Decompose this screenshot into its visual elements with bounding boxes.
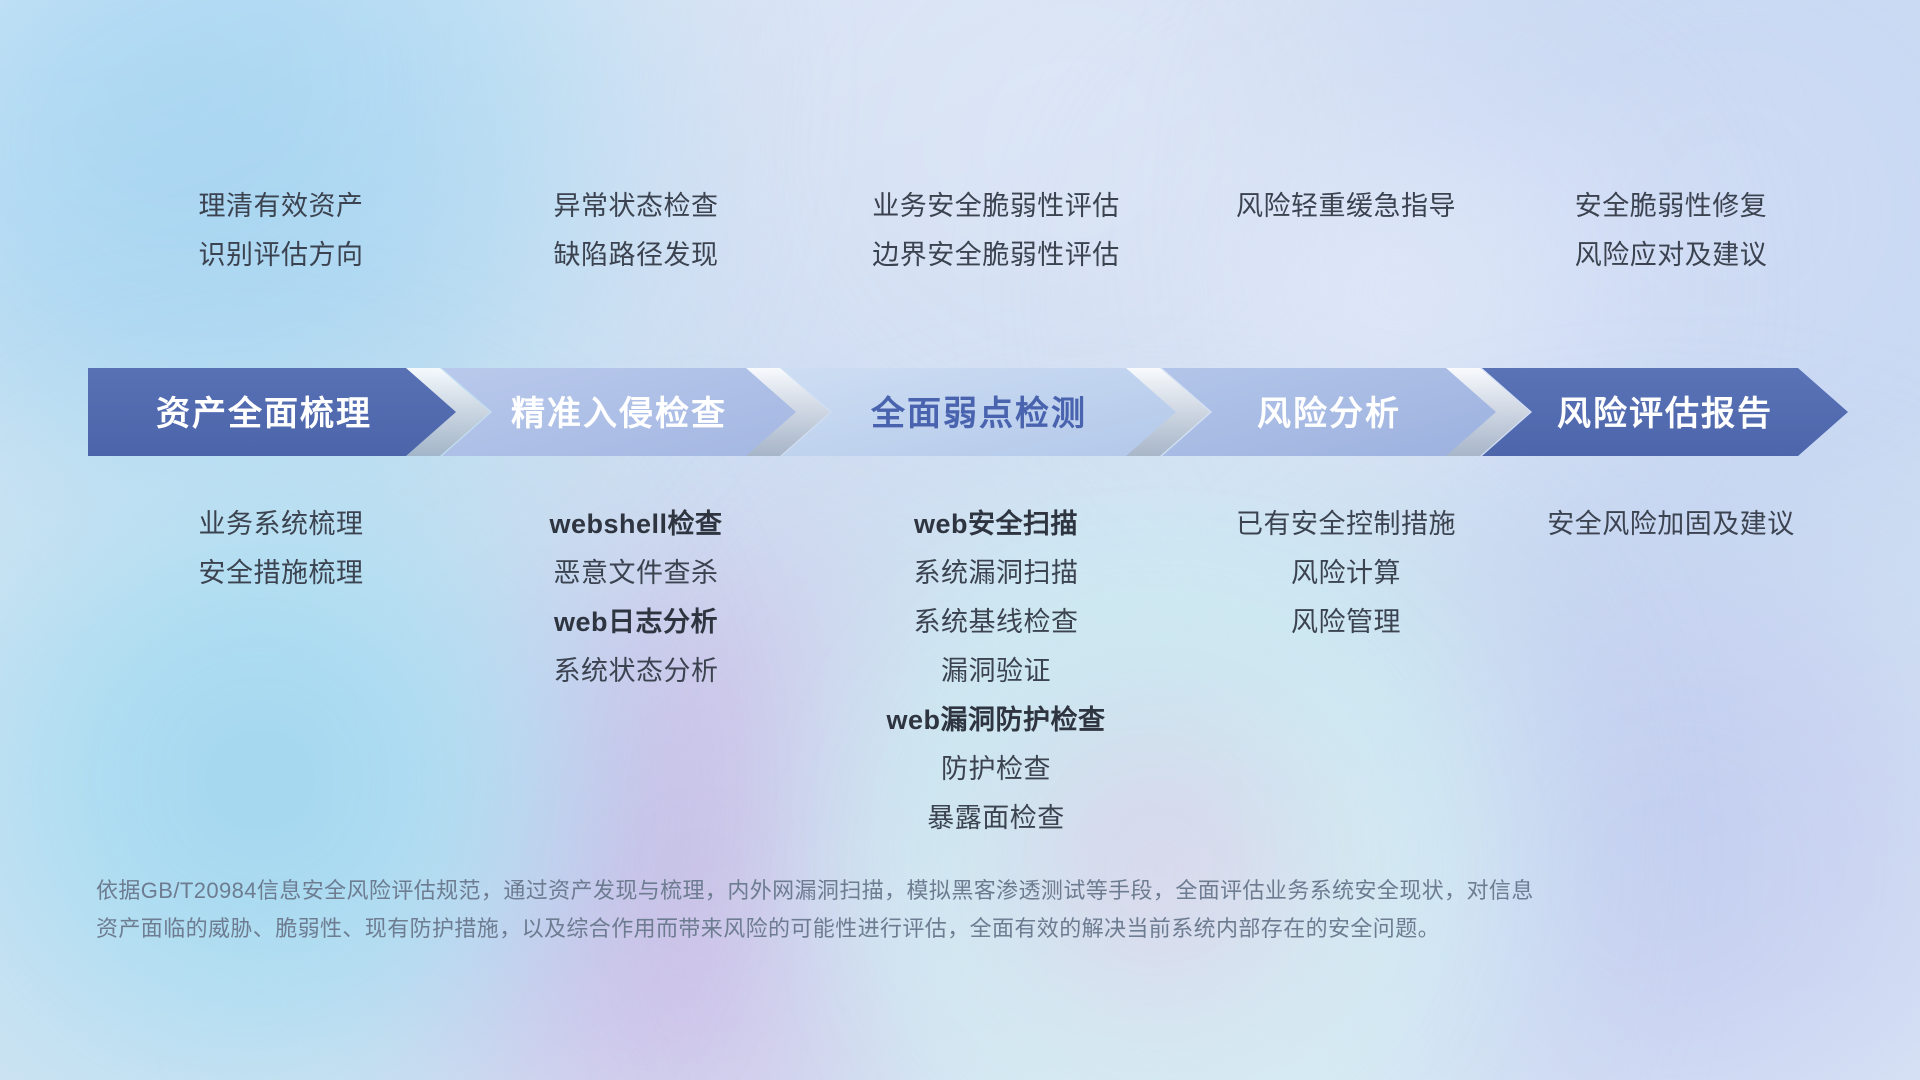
- top-column-3: 业务安全脆弱性评估 边界安全脆弱性评估: [806, 182, 1186, 282]
- bottom-label: 系统基线检查: [914, 598, 1079, 647]
- bottom-label: 风险计算: [1291, 549, 1401, 598]
- bottom-label: 系统状态分析: [554, 647, 719, 696]
- bottom-label: 业务系统梳理: [199, 500, 364, 549]
- bottom-label: web安全扫描: [914, 500, 1078, 549]
- bottom-column-3: web安全扫描 系统漏洞扫描 系统基线检查 漏洞验证 web漏洞防护检查 防护检…: [806, 500, 1186, 843]
- bottom-column-1: 业务系统梳理 安全措施梳理: [96, 500, 466, 598]
- process-chevron-banner: 资产全面梳理 精准入侵检查 全面弱点检测 风险分析 风险评估报告: [88, 368, 1848, 456]
- bottom-label: web日志分析: [554, 598, 718, 647]
- bottom-column-2: webshell检查 恶意文件查杀 web日志分析 系统状态分析: [466, 500, 806, 696]
- top-label: 边界安全脆弱性评估: [872, 231, 1120, 280]
- top-label-row: 理清有效资产 识别评估方向 异常状态检查 缺陷路径发现 业务安全脆弱性评估 边界…: [96, 182, 1836, 282]
- bottom-column-5: 安全风险加固及建议: [1506, 500, 1836, 549]
- bottom-label: webshell检查: [549, 500, 722, 549]
- bottom-label: 暴露面检查: [927, 794, 1065, 843]
- footer-description: 依据GB/T20984信息安全风险评估规范，通过资产发现与梳理，内外网漏洞扫描，…: [96, 872, 1696, 948]
- top-label: 风险应对及建议: [1575, 231, 1768, 280]
- top-label: 安全脆弱性修复: [1575, 182, 1768, 231]
- bottom-label: 已有安全控制措施: [1236, 500, 1456, 549]
- bottom-label: 安全措施梳理: [199, 549, 364, 598]
- bottom-label-row: 业务系统梳理 安全措施梳理 webshell检查 恶意文件查杀 web日志分析 …: [96, 500, 1836, 843]
- bottom-label: 防护检查: [941, 745, 1051, 794]
- stage-3-label: 全面弱点检测: [870, 394, 1087, 433]
- top-label: 理清有效资产: [199, 182, 364, 231]
- top-column-2: 异常状态检查 缺陷路径发现: [466, 182, 806, 282]
- top-label: 缺陷路径发现: [554, 231, 719, 280]
- top-label: 业务安全脆弱性评估: [872, 182, 1120, 231]
- bottom-label: 恶意文件查杀: [554, 549, 719, 598]
- bottom-label: 风险管理: [1291, 598, 1401, 647]
- stage-2-label: 精准入侵检查: [511, 394, 727, 433]
- footer-line-1: 依据GB/T20984信息安全风险评估规范，通过资产发现与梳理，内外网漏洞扫描，…: [96, 872, 1696, 910]
- top-column-4: 风险轻重缓急指导: [1186, 182, 1506, 282]
- bottom-label: 漏洞验证: [941, 647, 1051, 696]
- stage-1-label: 资产全面梳理: [156, 394, 372, 433]
- bottom-column-4: 已有安全控制措施 风险计算 风险管理: [1186, 500, 1506, 647]
- footer-line-2: 资产面临的威胁、脆弱性、现有防护措施，以及综合作用而带来风险的可能性进行评估，全…: [96, 910, 1696, 948]
- stage-4-label: 风险分析: [1257, 394, 1401, 433]
- bottom-label: 系统漏洞扫描: [914, 549, 1079, 598]
- top-label: 风险轻重缓急指导: [1236, 182, 1456, 231]
- stage-5-label: 风险评估报告: [1557, 394, 1773, 433]
- bottom-label: 安全风险加固及建议: [1547, 500, 1795, 549]
- top-label: 识别评估方向: [199, 231, 364, 280]
- top-column-5: 安全脆弱性修复 风险应对及建议: [1506, 182, 1836, 282]
- top-label: 异常状态检查: [554, 182, 719, 231]
- bottom-label: web漏洞防护检查: [886, 696, 1105, 745]
- top-column-1: 理清有效资产 识别评估方向: [96, 182, 466, 282]
